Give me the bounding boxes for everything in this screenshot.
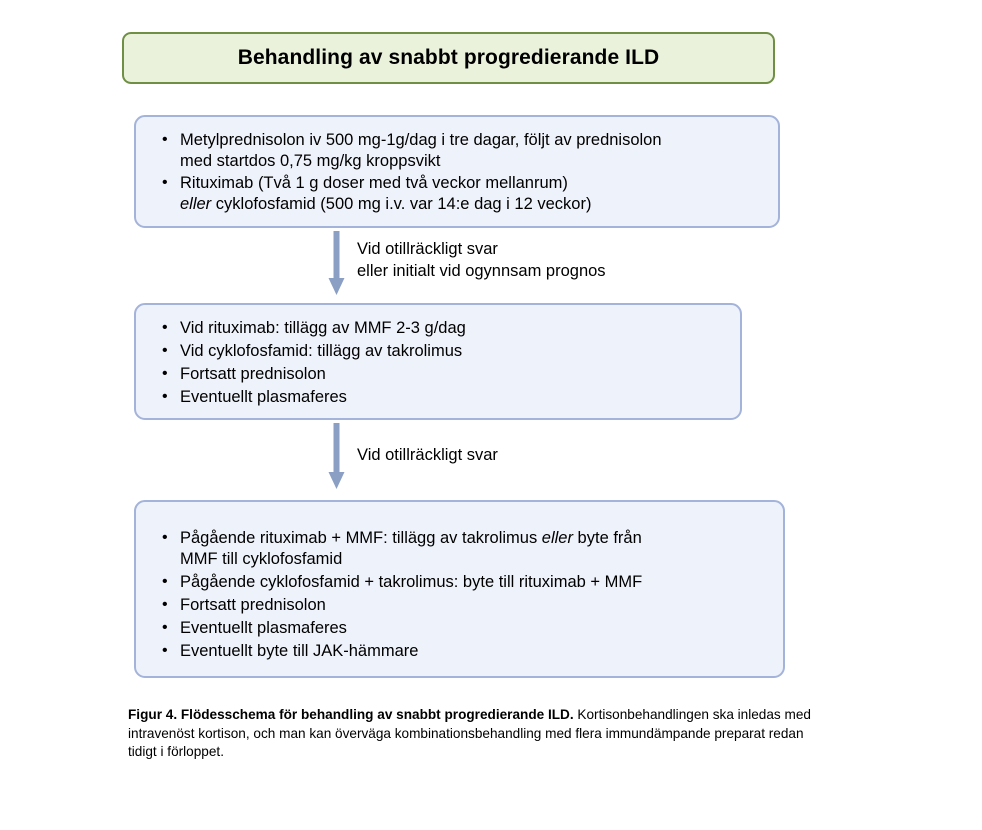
flow-step-3-list: Pågående rituximab + MMF: tillägg av tak…: [136, 502, 783, 662]
figure-canvas: Behandling av snabbt progredierande ILD …: [0, 0, 982, 830]
list-item: Vid rituximab: tillägg av MMF 2-3 g/dag: [180, 318, 728, 339]
list-item: Fortsatt prednisolon: [180, 595, 771, 616]
figure-caption-lead: Figur 4. Flödesschema för behandling av …: [128, 707, 574, 722]
list-item: Fortsatt prednisolon: [180, 364, 728, 385]
flow-step-box-3: Pågående rituximab + MMF: tillägg av tak…: [134, 500, 785, 678]
list-item: Metylprednisolon iv 500 mg-1g/dag i tre …: [180, 130, 766, 172]
flow-step-box-2: Vid rituximab: tillägg av MMF 2-3 g/dag …: [134, 303, 742, 420]
arrow-label-2: Vid otillräckligt svar: [357, 444, 498, 466]
list-item: Pågående rituximab + MMF: tillägg av tak…: [180, 528, 771, 570]
down-arrow-icon-1: [326, 231, 348, 297]
flowchart-title-text: Behandling av snabbt progredierande ILD: [238, 46, 660, 69]
arrow-label-1: Vid otillräckligt svar eller initialt vi…: [357, 238, 606, 282]
list-item: Pågående cyklofosfamid + takrolimus: byt…: [180, 572, 771, 593]
flow-step-2-list: Vid rituximab: tillägg av MMF 2-3 g/dag …: [136, 305, 740, 408]
down-arrow-icon-2: [326, 423, 348, 491]
list-item: Eventuellt byte till JAK-hämmare: [180, 641, 771, 662]
list-item: Eventuellt plasmaferes: [180, 387, 728, 408]
list-item: Vid cyklofosfamid: tillägg av takrolimus: [180, 341, 728, 362]
flow-step-1-list: Metylprednisolon iv 500 mg-1g/dag i tre …: [136, 117, 778, 215]
list-item: Eventuellt plasmaferes: [180, 618, 771, 639]
list-item: Rituximab (Två 1 g doser med två veckor …: [180, 173, 766, 215]
flow-step-box-1: Metylprednisolon iv 500 mg-1g/dag i tre …: [134, 115, 780, 228]
flowchart-title-box: Behandling av snabbt progredierande ILD: [122, 32, 775, 84]
figure-caption: Figur 4. Flödesschema för behandling av …: [128, 706, 834, 762]
